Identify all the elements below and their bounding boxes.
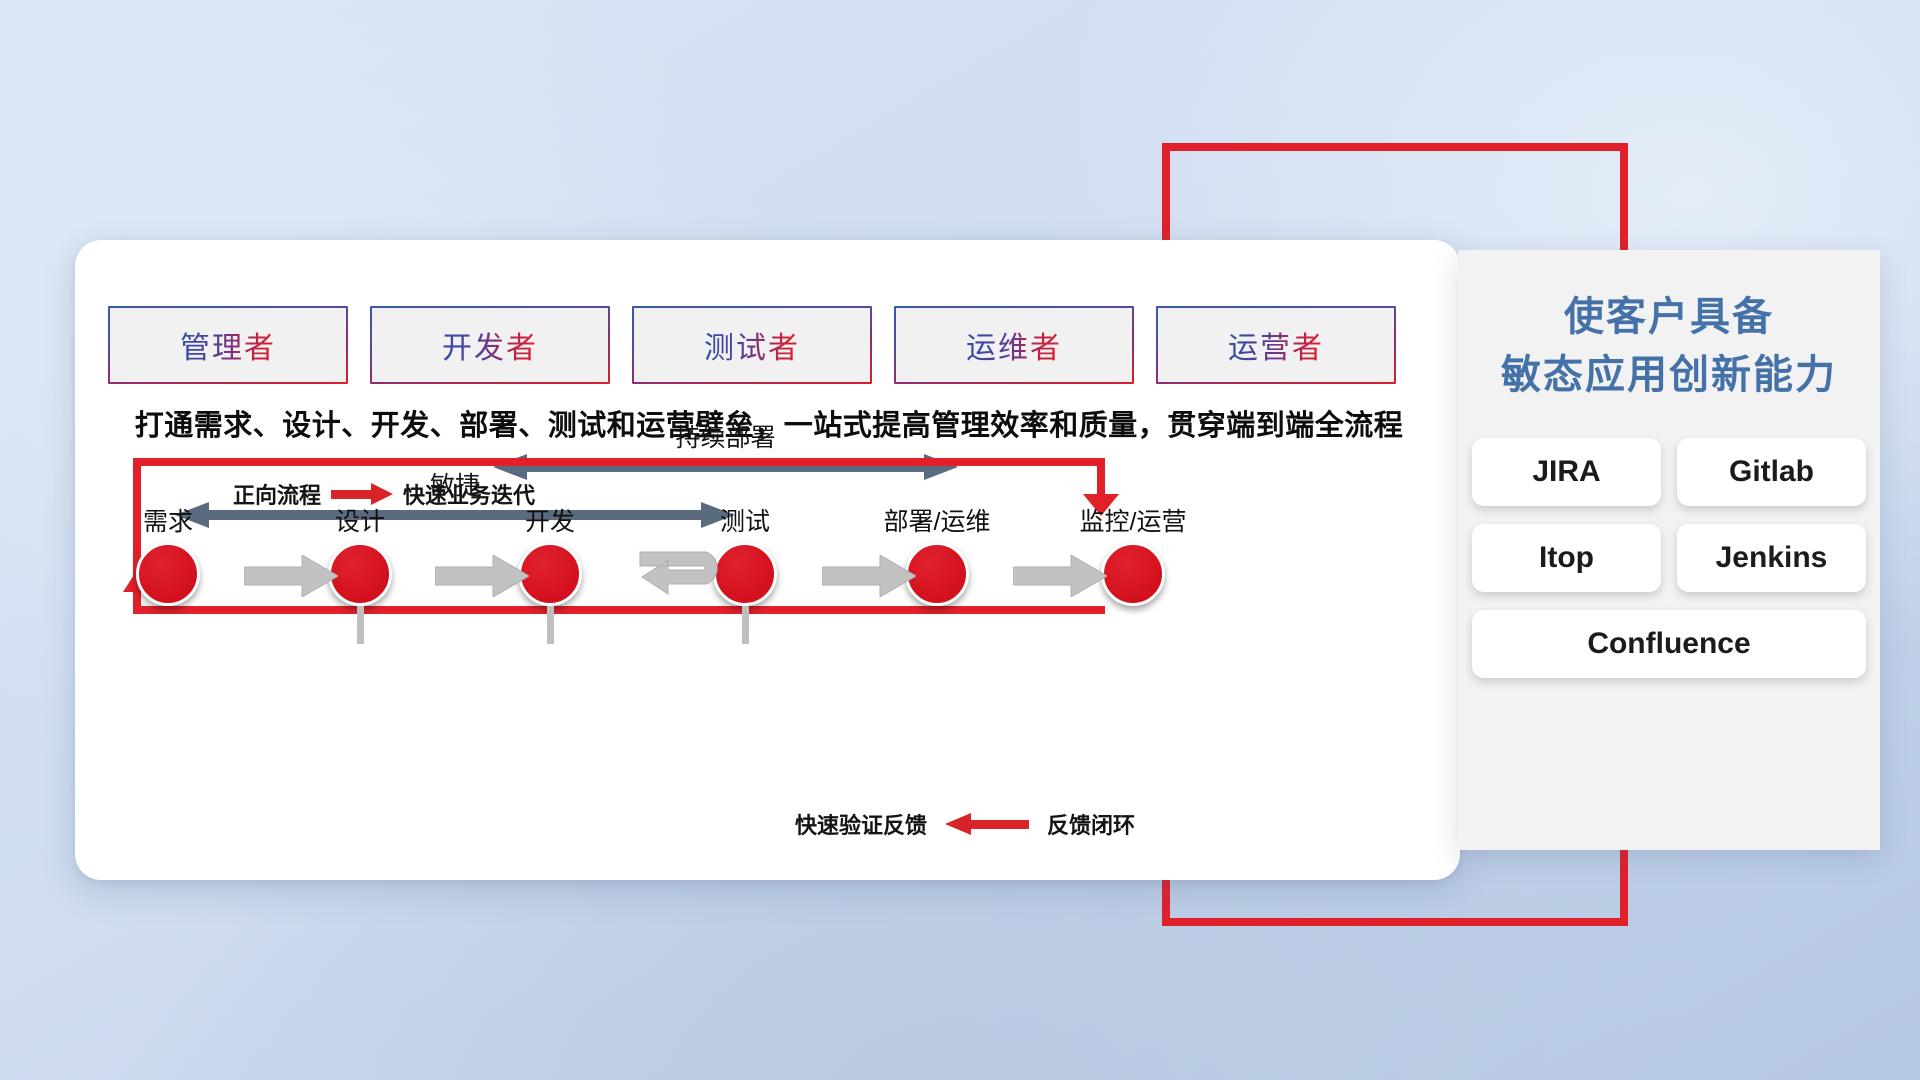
stage-node-circle: [136, 542, 200, 606]
legend-feedback-right-label: 反馈闭环: [1047, 808, 1135, 840]
outer-loop-top-segment: [1162, 143, 1628, 151]
inner-loop-top-segment: [133, 458, 1105, 466]
role-box-operations[interactable]: 运营者: [1156, 306, 1396, 384]
stage-label: 设计: [285, 510, 435, 535]
stage-tick: [357, 606, 364, 644]
role-box-tester[interactable]: 测试者: [632, 306, 872, 384]
role-label: 管理者: [180, 323, 276, 367]
role-box-manager[interactable]: 管理者: [108, 306, 348, 384]
role-box-developer[interactable]: 开发者: [370, 306, 610, 384]
stage-label: 测试: [670, 510, 820, 535]
flow-arrow-right-icon: [822, 555, 916, 597]
pipeline-stage-row: 需求 设计 开发 测试 部署/运维 监控/运营: [110, 510, 1230, 640]
tool-chip-itop[interactable]: Itop: [1472, 524, 1661, 592]
panel-title-line-1: 使客户具备: [1458, 288, 1880, 346]
legend-feedback-left-label: 快速验证反馈: [795, 808, 927, 840]
tool-chip-jenkins[interactable]: Jenkins: [1677, 524, 1866, 592]
flow-arrow-right-icon: [435, 555, 529, 597]
span-label: 持续部署: [493, 418, 958, 454]
stage-label: 需求: [93, 510, 243, 535]
stage-label: 开发: [475, 510, 625, 535]
stage-label: 监控/运营: [1058, 510, 1208, 535]
tool-chip-grid: JIRA Gitlab Itop Jenkins Confluence: [1472, 438, 1866, 678]
legend-feedback-loop: 快速验证反馈 反馈闭环: [795, 808, 1135, 840]
arrow-left-red-icon: [945, 813, 1029, 835]
role-box-row: 管理者 开发者 测试者 运维者 运营者: [108, 306, 1396, 384]
flow-arrow-right-icon: [244, 555, 338, 597]
tool-chip-confluence[interactable]: Confluence: [1472, 610, 1866, 678]
role-label: 运维者: [966, 323, 1062, 367]
tool-chip-gitlab[interactable]: Gitlab: [1677, 438, 1866, 506]
role-label: 测试者: [704, 323, 800, 367]
panel-title: 使客户具备 敏态应用创新能力: [1458, 288, 1880, 404]
inner-loop-right-segment: [1097, 458, 1105, 498]
role-box-ops[interactable]: 运维者: [894, 306, 1134, 384]
outer-loop-bottom-segment: [1162, 918, 1628, 926]
cycle-loop-arrow-icon: [628, 546, 738, 608]
stage-label: 部署/运维: [862, 510, 1012, 535]
main-diagram-card: 管理者 开发者 测试者 运维者 运营者 打通需求、设计、开发、部署、测试和运营壁…: [75, 240, 1460, 880]
panel-title-line-2: 敏态应用创新能力: [1458, 346, 1880, 404]
role-label: 开发者: [442, 323, 538, 367]
stage-tick: [742, 606, 749, 644]
capability-panel: 使客户具备 敏态应用创新能力 JIRA Gitlab Itop Jenkins …: [1458, 250, 1880, 850]
stage-node-circle: [1101, 542, 1165, 606]
stage-tick: [547, 606, 554, 644]
tool-chip-jira[interactable]: JIRA: [1472, 438, 1661, 506]
pipeline-stage-requirement[interactable]: 需求: [93, 510, 243, 606]
role-label: 运营者: [1228, 323, 1324, 367]
flow-arrow-right-icon: [1013, 555, 1107, 597]
